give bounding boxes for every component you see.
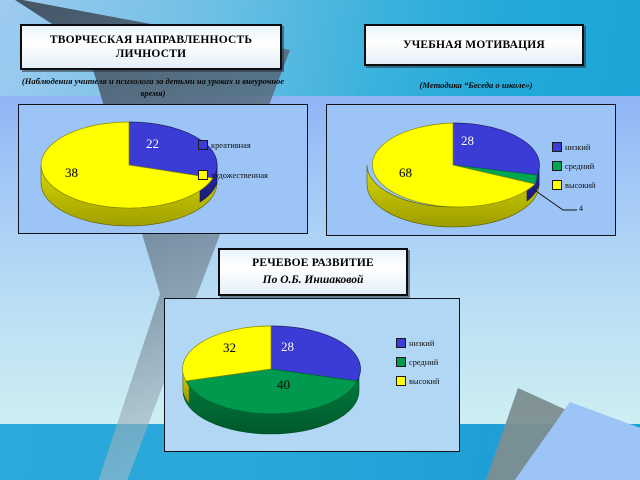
legend-item[interactable]: средний bbox=[396, 357, 440, 367]
legend-item[interactable]: высокий bbox=[396, 376, 440, 386]
caption-motivation: (Методика “Беседа о школе») bbox=[370, 80, 582, 92]
legend-item[interactable]: креативная bbox=[198, 140, 268, 150]
legend-item[interactable]: средний bbox=[552, 161, 596, 171]
legend-swatch-icon bbox=[396, 338, 406, 348]
legend-motivation: низкий средний высокий bbox=[552, 142, 596, 199]
legend-item[interactable]: художественная bbox=[198, 170, 268, 180]
legend-label: средний bbox=[409, 358, 438, 367]
title-text-motivation: УЧЕБНАЯ МОТИВАЦИЯ bbox=[403, 38, 545, 52]
legend-label: высокий bbox=[409, 377, 440, 386]
title-text-creative: ТВОРЧЕСКАЯ НАПРАВЛЕННОСТЬ ЛИЧНОСТИ bbox=[22, 33, 280, 62]
legend-label: креативная bbox=[211, 141, 251, 150]
pie-value-motivation-1: 4 bbox=[579, 204, 583, 213]
legend-item[interactable]: низкий bbox=[552, 142, 596, 152]
subtitle-text-speech: По О.Б. Иншаковой bbox=[263, 273, 364, 288]
legend-swatch-icon bbox=[552, 142, 562, 152]
pie-value-motivation-2: 68 bbox=[399, 165, 412, 181]
title-plate-speech[interactable]: РЕЧЕВОЕ РАЗВИТИЕ По О.Б. Иншаковой bbox=[218, 248, 408, 296]
legend-label: низкий bbox=[565, 143, 590, 152]
pie-value-speech-2: 32 bbox=[223, 340, 236, 356]
title-plate-motivation[interactable]: УЧЕБНАЯ МОТИВАЦИЯ bbox=[364, 24, 584, 66]
pie-value-motivation-0: 28 bbox=[461, 133, 474, 149]
legend-item[interactable]: высокий bbox=[552, 180, 596, 190]
legend-label: средний bbox=[565, 162, 594, 171]
legend-swatch-icon bbox=[198, 140, 208, 150]
pie-value-creative-1: 38 bbox=[65, 165, 78, 181]
pie-value-speech-1: 40 bbox=[277, 377, 290, 393]
legend-swatch-icon bbox=[552, 180, 562, 190]
caption-creative: (Наблюдения учителя и психолога за детьм… bbox=[14, 76, 292, 99]
legend-creative: креативная художественная bbox=[198, 140, 268, 200]
legend-speech: низкий средний высокий bbox=[396, 338, 440, 395]
title-plate-creative[interactable]: ТВОРЧЕСКАЯ НАПРАВЛЕННОСТЬ ЛИЧНОСТИ bbox=[20, 24, 282, 70]
legend-swatch-icon bbox=[198, 170, 208, 180]
legend-swatch-icon bbox=[396, 357, 406, 367]
title-text-speech: РЕЧЕВОЕ РАЗВИТИЕ bbox=[252, 256, 374, 270]
pie-value-speech-0: 28 bbox=[281, 339, 294, 355]
legend-label: художественная bbox=[211, 171, 268, 180]
legend-item[interactable]: низкий bbox=[396, 338, 440, 348]
legend-swatch-icon bbox=[552, 161, 562, 171]
legend-swatch-icon bbox=[396, 376, 406, 386]
presentation-slide: ТВОРЧЕСКАЯ НАПРАВЛЕННОСТЬ ЛИЧНОСТИ (Набл… bbox=[0, 0, 640, 480]
legend-label: высокий bbox=[565, 181, 596, 190]
legend-label: низкий bbox=[409, 339, 434, 348]
pie-value-creative-0: 22 bbox=[146, 136, 159, 152]
